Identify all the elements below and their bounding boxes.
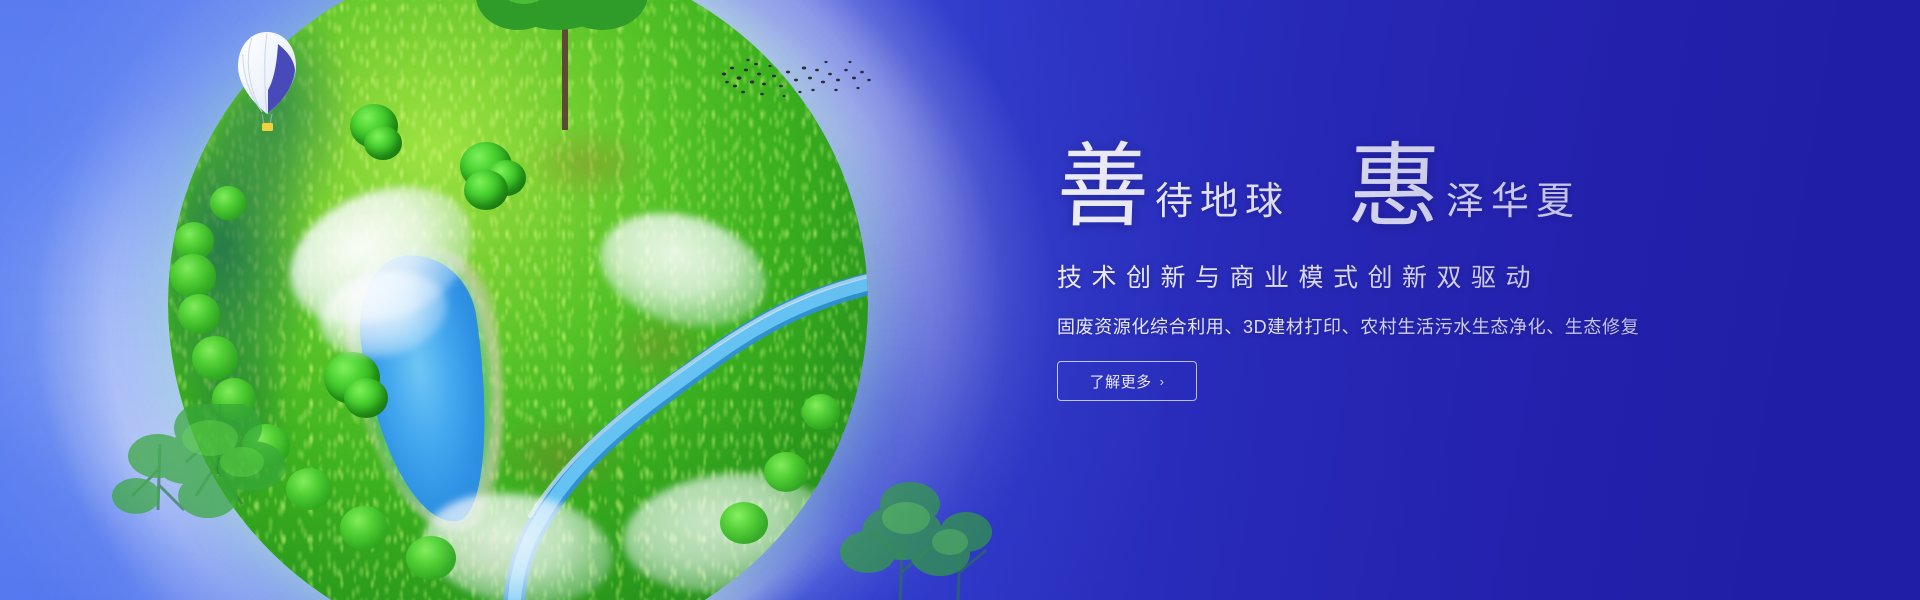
background-vignette — [0, 0, 1920, 600]
hero-banner: 善 待地球 惠 泽华夏 技术创新与商业模式创新双驱动 固废资源化综合利用、3D建… — [0, 0, 1920, 600]
